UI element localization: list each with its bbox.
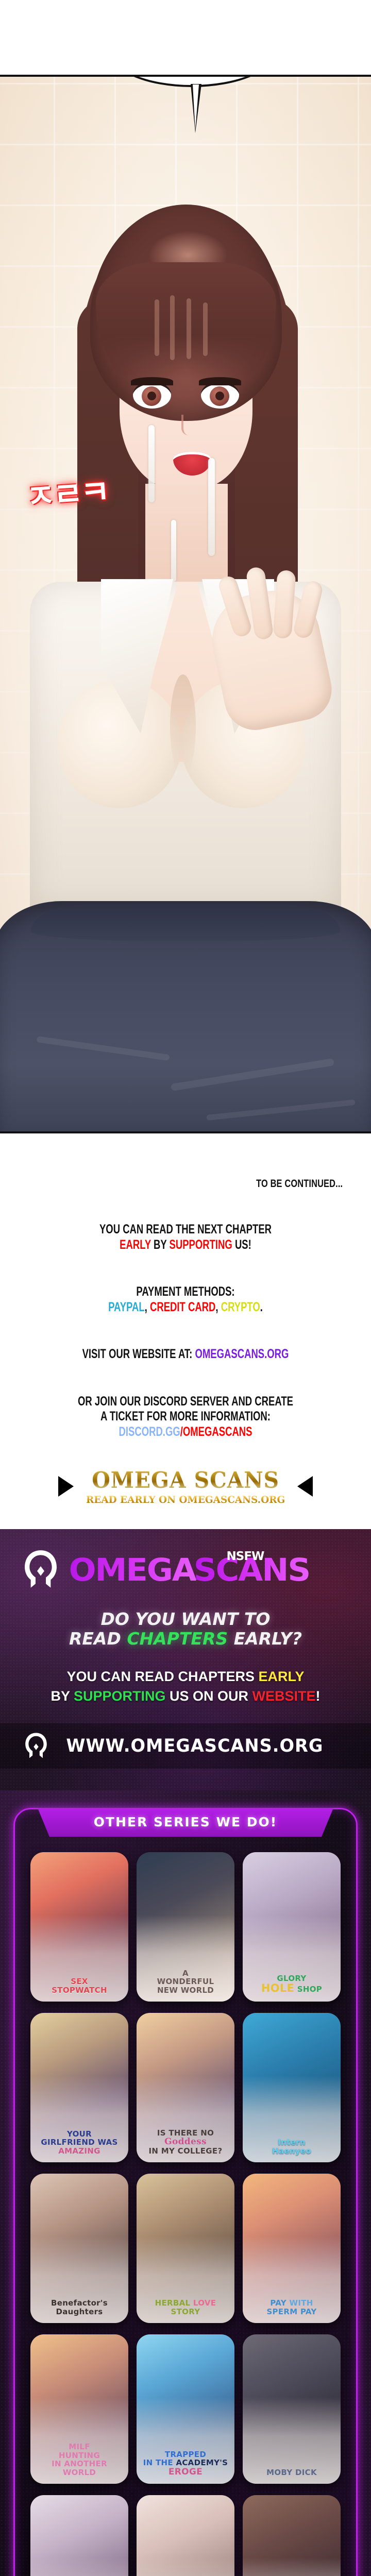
promo-body-line-1: YOU CAN READ CHAPTERS EARLY	[0, 1667, 371, 1686]
series-thumbnail[interactable]: IS THERE NOGoddessIN MY COLLEGE?	[137, 2013, 234, 2162]
website-url[interactable]: OMEGASCANS.ORG	[195, 1347, 289, 1361]
series-title-label: IS THERE NOGoddessIN MY COLLEGE?	[137, 2129, 234, 2156]
series-thumbnail[interactable]: TRAPPEDIN THE ACADEMY'SEROGE	[137, 2334, 234, 2484]
headline-chapters: CHAPTERS	[127, 1629, 228, 1649]
promo-body-website: WEBSITE	[252, 1688, 316, 1704]
series-thumbnail[interactable]: SEXSTOPWATCH	[30, 1852, 128, 2002]
series-cover-fade	[243, 2558, 341, 2576]
series-thumbnail-grid: SEXSTOPWATCHAWONDERFULNEW WORLDGLORYHOLE…	[15, 1837, 356, 2576]
comic-panel: ㅈㄹㅋ H-HUH...?	[0, 75, 371, 1133]
bang-streak	[187, 298, 191, 359]
series-window-titlebar: OTHER SERIES WE DO! — X	[38, 1808, 333, 1837]
promo-body-by: BY	[50, 1688, 74, 1704]
promo-body-supporting: SUPPORTING	[74, 1688, 166, 1704]
promo-url-text: WWW.OMEGASCANS.ORG	[66, 1736, 323, 1756]
gold-banner-text: OMEGA SCANS READ EARLY ON OMEGASCANS.ORG	[83, 1467, 288, 1505]
series-thumbnail[interactable]: Benefactor'sDaughters	[30, 2174, 128, 2323]
promo-headline: DO YOU WANT TO READ CHAPTERS EARLY?	[0, 1609, 371, 1649]
gold-banner: OMEGA SCANS READ EARLY ON OMEGASCANS.ORG	[0, 1439, 371, 1529]
series-thumbnail[interactable]: MYILLUSTRATOR	[137, 2495, 234, 2576]
eye-left	[133, 382, 171, 409]
series-thumbnail[interactable]: Isekai DragondickKnight Commander	[30, 2495, 128, 2576]
series-title-label: TRAPPEDIN THE ACADEMY'SEROGE	[137, 2450, 234, 2477]
window-controls[interactable]: — X	[335, 1822, 357, 1833]
fluid-drip	[148, 425, 155, 502]
promo-headline-line-1: DO YOU WANT TO	[0, 1609, 371, 1629]
headline-early: EARLY?	[228, 1629, 302, 1649]
bang-streak	[155, 299, 159, 356]
series-thumbnail[interactable]: AWONDERFULNEW WORLD	[137, 1852, 234, 2002]
payment-paypal: PAYPAL	[108, 1300, 145, 1314]
webtoon-page: ㅈㄹㅋ H-HUH...? TO BE	[0, 0, 371, 2576]
promo-body-early: EARLY	[259, 1669, 305, 1684]
eye-right	[201, 382, 239, 409]
next-chapter-line-2: EARLY BY SUPPORTING US!	[57, 1238, 314, 1253]
series-thumbnail[interactable]: PAY WITHSPERM PAY	[243, 2174, 341, 2323]
triangle-right-icon	[297, 1476, 313, 1497]
next-chapter-line-1: YOU CAN READ THE NEXT CHAPTER	[57, 1222, 314, 1238]
speech-bubble-tail	[191, 84, 201, 133]
visit-label: VISIT OUR WEBSITE AT:	[82, 1347, 195, 1361]
by-word: BY	[151, 1238, 170, 1252]
omega-logo-icon	[21, 1549, 61, 1591]
payment-credit-card: CREDIT CARD	[150, 1300, 215, 1314]
series-thumbnail[interactable]: GOLDEN FACADE	[243, 2495, 341, 2576]
bang-streak	[203, 302, 208, 356]
series-title-label: Benefactor'sDaughters	[30, 2299, 128, 2316]
series-title-label: SEXSTOPWATCH	[30, 1977, 128, 1994]
omega-logo-row: OMEGASCANS NSFW	[0, 1549, 371, 1591]
series-title-label: GLORYHOLE SHOP	[243, 1974, 341, 1995]
series-title-label: YOURGIRLFRIEND WASAMAZING	[30, 2130, 128, 2156]
panel-top-margin	[0, 0, 371, 75]
series-window-title: OTHER SERIES WE DO!	[94, 1815, 277, 1829]
dark-promo-banner: OMEGASCANS NSFW DO YOU WANT TO READ CHAP…	[0, 1529, 371, 1790]
gold-banner-title: OMEGA SCANS	[88, 1467, 283, 1493]
skirt-waistband	[31, 904, 340, 941]
neck	[145, 484, 228, 592]
us-word: US!	[232, 1238, 251, 1252]
series-thumbnail[interactable]: MILFHUNTINGIN ANOTHER WORLD	[30, 2334, 128, 2484]
torso-left	[58, 680, 181, 808]
series-title-label: InternHaenyeo	[243, 2138, 341, 2155]
series-title-label: MOBY DICK	[243, 2468, 341, 2477]
promo-body-line-2: BY SUPPORTING US ON OUR WEBSITE!	[0, 1686, 371, 1706]
payment-methods-label: PAYMENT METHODS:	[57, 1284, 314, 1300]
fluid-drip	[171, 520, 176, 582]
close-icon[interactable]: X	[350, 1822, 357, 1833]
nose	[181, 415, 189, 435]
discord-invite-link[interactable]: DISCORD.GG/OMEGASCANS	[57, 1425, 314, 1440]
series-thumbnail[interactable]: MOBY DICK	[243, 2334, 341, 2484]
series-thumbnail[interactable]: HERBAL LOVESTORY	[137, 2174, 234, 2323]
visit-website-line: VISIT OUR WEBSITE AT: OMEGASCANS.ORG	[57, 1347, 314, 1362]
speech-bubble-container: H-HUH...?	[108, 75, 278, 107]
series-title-label: HERBAL LOVESTORY	[137, 2299, 234, 2316]
discord-line-2: A TICKET FOR MORE INFORMATION:	[57, 1409, 314, 1425]
series-thumbnail[interactable]: InternHaenyeo	[243, 2013, 341, 2162]
omega-wordmark: OMEGASCANS NSFW	[70, 1552, 308, 1588]
to-be-continued: TO BE CONTINUED...	[88, 1133, 360, 1190]
promo-body-prefix: YOU CAN READ CHAPTERS	[66, 1669, 258, 1684]
nsfw-badge: NSFW	[227, 1550, 264, 1563]
promo-body-bang: !	[316, 1688, 321, 1704]
promo-url-bar[interactable]: WWW.OMEGASCANS.ORG	[0, 1723, 371, 1769]
triangle-left-icon	[58, 1476, 74, 1497]
series-thumbnail[interactable]: GLORYHOLE SHOP	[243, 1852, 341, 2002]
hair-bangs	[96, 262, 276, 381]
promo-body-text: YOU CAN READ CHAPTERS EARLY BY SUPPORTIN…	[0, 1667, 371, 1706]
early-word: EARLY	[120, 1238, 151, 1252]
minimize-icon[interactable]: —	[335, 1822, 344, 1833]
payment-crypto: CRYPTO	[221, 1300, 260, 1314]
headline-read: READ	[69, 1629, 127, 1649]
discord-line-1: OR JOIN OUR DISCORD SERVER AND CREATE	[57, 1394, 314, 1410]
discord-path: /OMEGASCANS	[180, 1425, 252, 1439]
omega-logo-icon-small	[23, 1732, 49, 1760]
series-title-label: PAY WITHSPERM PAY	[243, 2299, 341, 2316]
omega-text: OMEGA	[69, 1552, 196, 1588]
promo-body-mid: US ON OUR	[166, 1688, 252, 1704]
torso-shadow	[170, 674, 196, 777]
sound-effect-text: ㅈㄹㅋ	[24, 466, 109, 518]
discord-domain: DISCORD.GG	[119, 1425, 180, 1439]
gold-banner-subtitle: READ EARLY ON OMEGASCANS.ORG	[86, 1494, 285, 1505]
series-title-label: MILFHUNTINGIN ANOTHER WORLD	[30, 2443, 128, 2477]
series-thumbnail[interactable]: YOURGIRLFRIEND WASAMAZING	[30, 2013, 128, 2162]
outro-text-block: TO BE CONTINUED... YOU CAN READ THE NEXT…	[0, 1133, 371, 1439]
supporting-word: SUPPORTING	[169, 1238, 232, 1252]
other-series-section: OTHER SERIES WE DO! — X SEXSTOPWATCHAWON…	[0, 1790, 371, 2576]
series-title-label: AWONDERFULNEW WORLD	[137, 1969, 234, 1995]
promo-headline-line-2: READ CHAPTERS EARLY?	[0, 1629, 371, 1649]
series-window-frame: OTHER SERIES WE DO! — X SEXSTOPWATCHAWON…	[13, 1808, 358, 2576]
series-cover-fade	[30, 2558, 128, 2576]
series-cover-fade	[137, 2558, 234, 2576]
bang-streak	[170, 295, 175, 360]
payment-methods-list: PAYPAL, CREDIT CARD, CRYPTO.	[57, 1300, 314, 1315]
character-illustration: ㅈㄹㅋ	[0, 77, 371, 1133]
fluid-drip	[208, 458, 215, 556]
